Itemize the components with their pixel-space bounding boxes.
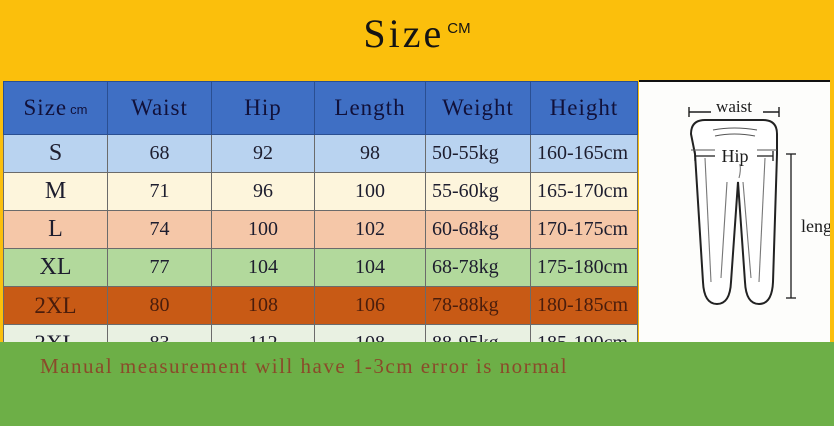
size-chart-image: SizeCM [0, 0, 834, 426]
cell-size: M [4, 173, 108, 211]
measurement-note: Manual measurement will have 1-3cm error… [40, 354, 740, 379]
cell-hip: 108 [212, 287, 315, 325]
cell-waist: 80 [108, 287, 212, 325]
hip-label: Hip [722, 146, 749, 166]
length-label: length [801, 216, 830, 236]
cell-height: 175-180cm [531, 249, 638, 287]
table-row: 2XL 80 108 106 78-88kg 180-185cm [4, 287, 638, 325]
cell-height: 180-185cm [531, 287, 638, 325]
cell-length: 98 [315, 135, 426, 173]
column-header-weight: Weight [426, 82, 531, 135]
cell-size: S [4, 135, 108, 173]
cell-weight: 50-55kg [426, 135, 531, 173]
column-header-length: Length [315, 82, 426, 135]
cell-weight: 68-78kg [426, 249, 531, 287]
cell-weight: 55-60kg [426, 173, 531, 211]
table-header: Sizecm Waist Hip Length Weight Height [4, 82, 638, 135]
length-dimension-arrow [786, 154, 796, 298]
cell-size: L [4, 211, 108, 249]
column-header-size: Sizecm [4, 82, 108, 135]
table-row: M 71 96 100 55-60kg 165-170cm [4, 173, 638, 211]
cell-hip: 100 [212, 211, 315, 249]
cell-hip: 104 [212, 249, 315, 287]
pants-diagram-icon: waist Hip length [639, 82, 830, 343]
cell-length: 104 [315, 249, 426, 287]
cell-weight: 78-88kg [426, 287, 531, 325]
table-row: S 68 92 98 50-55kg 160-165cm [4, 135, 638, 173]
cell-length: 102 [315, 211, 426, 249]
table-body: S 68 92 98 50-55kg 160-165cm M 71 96 100… [4, 135, 638, 363]
cell-waist: 71 [108, 173, 212, 211]
cell-waist: 74 [108, 211, 212, 249]
column-header-size-unit: cm [70, 102, 87, 117]
cell-hip: 92 [212, 135, 315, 173]
column-header-height: Height [531, 82, 638, 135]
cell-height: 165-170cm [531, 173, 638, 211]
cell-weight: 60-68kg [426, 211, 531, 249]
cell-waist: 77 [108, 249, 212, 287]
cell-size: XL [4, 249, 108, 287]
table-row: L 74 100 102 60-68kg 170-175cm [4, 211, 638, 249]
title-main: Size [363, 11, 444, 56]
table-header-row: Sizecm Waist Hip Length Weight Height [4, 82, 638, 135]
waist-label: waist [716, 97, 752, 116]
page-title: SizeCM [0, 4, 834, 59]
column-header-waist: Waist [108, 82, 212, 135]
cell-hip: 96 [212, 173, 315, 211]
cell-length: 106 [315, 287, 426, 325]
cell-size: 2XL [4, 287, 108, 325]
cell-height: 170-175cm [531, 211, 638, 249]
cell-waist: 68 [108, 135, 212, 173]
table-row: XL 77 104 104 68-78kg 175-180cm [4, 249, 638, 287]
column-header-hip: Hip [212, 82, 315, 135]
size-table: Sizecm Waist Hip Length Weight Height S … [3, 81, 638, 363]
title-unit: CM [447, 20, 470, 37]
cell-length: 100 [315, 173, 426, 211]
column-header-size-text: Size [24, 95, 68, 120]
title-band: SizeCM [0, 0, 834, 80]
pants-diagram-panel: waist Hip length [639, 80, 830, 343]
cell-height: 160-165cm [531, 135, 638, 173]
